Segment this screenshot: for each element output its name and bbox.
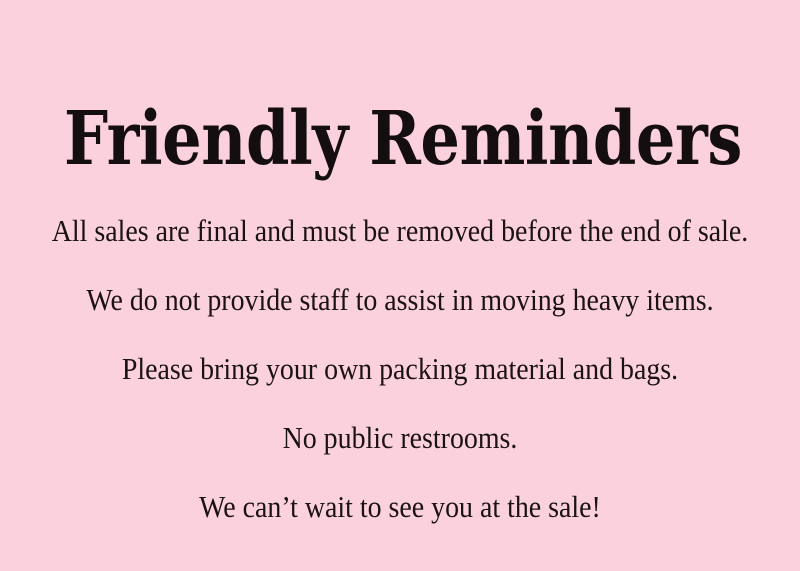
list-item: Please bring your own packing material a… <box>40 334 760 403</box>
page-title: Friendly Reminders <box>64 102 736 176</box>
reminders-list: All sales are final and must be removed … <box>0 196 800 541</box>
friendly-reminders-sign: Friendly Reminders All sales are final a… <box>0 0 800 571</box>
list-item: No public restrooms. <box>40 403 760 472</box>
sign-content: Friendly Reminders All sales are final a… <box>0 0 800 571</box>
list-item: All sales are final and must be removed … <box>40 196 760 265</box>
list-item: We can’t wait to see you at the sale! <box>40 472 760 541</box>
list-item: We do not provide staff to assist in mov… <box>40 265 760 334</box>
